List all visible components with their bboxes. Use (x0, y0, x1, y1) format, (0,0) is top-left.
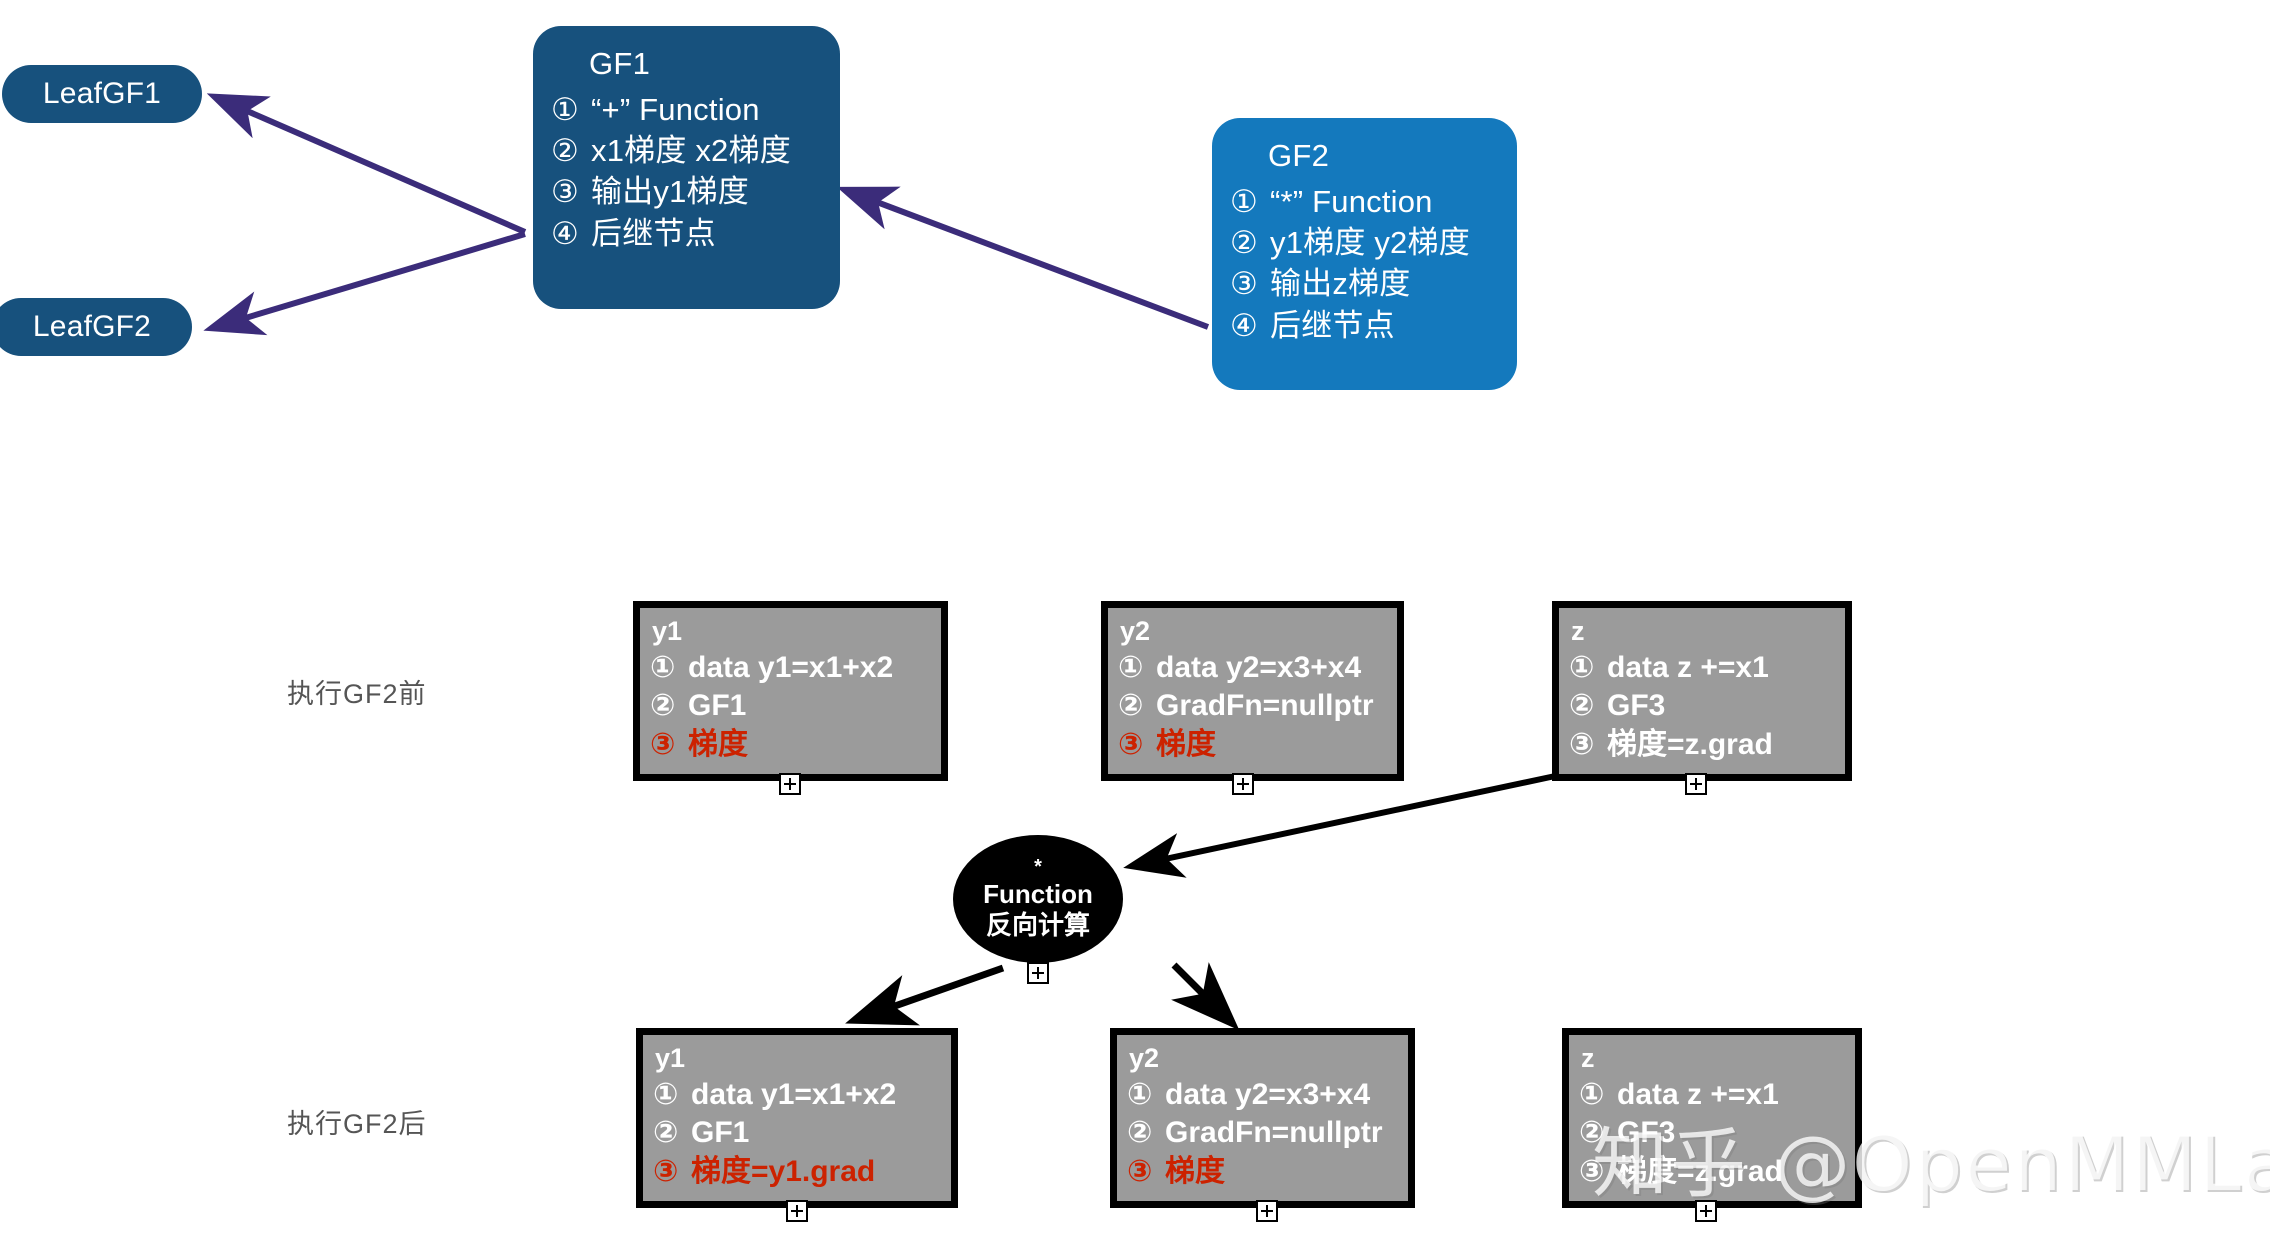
var-item: ③梯度 (650, 726, 941, 764)
var-item: ②GradFn=nullptr (1127, 1114, 1408, 1152)
var-item-list: ①data z +=x1 ②GF3 ③梯度=z.grad (1559, 645, 1845, 764)
list-number: ② (1569, 687, 1607, 725)
expand-handle-y2-after[interactable] (1256, 1200, 1278, 1222)
list-number: ③ (1118, 726, 1156, 764)
list-number: ① (1127, 1076, 1165, 1114)
arrow-gf2-to-gf1 (845, 190, 1208, 327)
arrow-function-to-y1 (855, 968, 1003, 1020)
var-item: ②GradFn=nullptr (1118, 687, 1397, 725)
var-item-list: ①data y1=x1+x2 ②GF1 ③梯度 (640, 645, 941, 764)
var-item: ②GF3 (1569, 687, 1845, 725)
list-number: ① (653, 1076, 691, 1114)
list-number: ④ (1230, 305, 1270, 346)
list-text: “*” Function (1270, 184, 1433, 219)
list-number: ② (551, 130, 591, 171)
gf1-item: ④后继节点 (551, 213, 840, 254)
gf1-item: ①“+” Function (551, 89, 840, 130)
list-text: data y1=x1+x2 (691, 1078, 896, 1111)
var-name: z (1559, 608, 1845, 645)
varbox-y2-before[interactable]: y2 ①data y2=x3+x4 ②GradFn=nullptr ③梯度 (1101, 601, 1404, 781)
list-text: data y2=x3+x4 (1165, 1078, 1370, 1111)
list-text: 梯度 (1165, 1155, 1225, 1188)
gf1-item: ③输出y1梯度 (551, 171, 840, 212)
leafgf1-label: LeafGF1 (43, 77, 161, 111)
var-item-list: ①data y2=x3+x4 ②GradFn=nullptr ③梯度 (1117, 1072, 1408, 1191)
list-number: ③ (1230, 263, 1270, 304)
varbox-y1-after[interactable]: y1 ①data y1=x1+x2 ②GF1 ③梯度=y1.grad (636, 1028, 958, 1208)
list-text: data y2=x3+x4 (1156, 651, 1361, 684)
list-text: data y1=x1+x2 (688, 651, 893, 684)
var-item: ②GF1 (650, 687, 941, 725)
expand-handle-y2-before[interactable] (1232, 773, 1254, 795)
list-number: ① (1118, 649, 1156, 687)
var-item: ①data y1=x1+x2 (650, 649, 941, 687)
var-name: y2 (1117, 1035, 1408, 1072)
list-text: 输出y1梯度 (591, 174, 749, 209)
list-number: ③ (551, 171, 591, 212)
var-item: ①data y2=x3+x4 (1127, 1076, 1408, 1114)
expand-handle-z-before[interactable] (1685, 773, 1707, 795)
var-name: y2 (1108, 608, 1397, 645)
list-text: GF1 (691, 1116, 749, 1149)
gf2-item: ②y1梯度 y2梯度 (1230, 222, 1517, 263)
var-item: ①data y1=x1+x2 (653, 1076, 951, 1114)
node-leafgf2[interactable]: LeafGF2 (0, 298, 192, 356)
list-text: GF3 (1607, 689, 1665, 722)
var-item: ③梯度=z.grad (1569, 726, 1845, 764)
list-number: ② (650, 687, 688, 725)
varbox-z-before[interactable]: z ①data z +=x1 ②GF3 ③梯度=z.grad (1552, 601, 1852, 781)
var-item-list: ①data y1=x1+x2 ②GF1 ③梯度=y1.grad (643, 1072, 951, 1191)
list-text: 后继节点 (1270, 308, 1395, 343)
star-symbol: * (1034, 857, 1042, 877)
list-text: GF1 (688, 689, 746, 722)
node-leafgf1[interactable]: LeafGF1 (2, 65, 202, 123)
list-text: y1梯度 y2梯度 (1270, 225, 1470, 260)
list-number: ③ (653, 1153, 691, 1191)
node-gf1[interactable]: GF1 ①“+” Function ②x1梯度 x2梯度 ③输出y1梯度 ④后继… (533, 26, 840, 309)
row-label-after: 执行GF2后 (287, 1102, 427, 1141)
var-item: ③梯度 (1118, 726, 1397, 764)
expand-handle-function[interactable] (1027, 962, 1049, 984)
var-item: ①data z +=x1 (1569, 649, 1845, 687)
gf1-title: GF1 (533, 26, 840, 79)
diagram-canvas: LeafGF1 LeafGF2 GF1 ①“+” Function ②x1梯度 … (0, 0, 2270, 1246)
list-text: 梯度=y1.grad (691, 1155, 875, 1188)
var-name: y1 (640, 608, 941, 645)
watermark: 知乎 @OpenMMLab (1592, 1102, 2270, 1212)
var-name: z (1569, 1035, 1855, 1072)
list-number: ④ (551, 213, 591, 254)
list-number: ② (1230, 222, 1270, 263)
var-item: ②GF1 (653, 1114, 951, 1152)
list-text: data z +=x1 (1607, 651, 1769, 684)
list-text: 梯度 (1156, 728, 1216, 761)
arrow-gf1-to-leafgf1 (215, 97, 525, 232)
list-number: ③ (650, 726, 688, 764)
list-number: ① (650, 649, 688, 687)
leafgf2-label: LeafGF2 (33, 310, 151, 344)
list-text: x1梯度 x2梯度 (591, 133, 791, 168)
list-number: ② (1127, 1114, 1165, 1152)
list-number: ② (653, 1114, 691, 1152)
list-text: 输出z梯度 (1270, 266, 1411, 301)
list-text: 后继节点 (591, 216, 716, 251)
list-number: ① (1230, 181, 1270, 222)
varbox-y2-after[interactable]: y2 ①data y2=x3+x4 ②GradFn=nullptr ③梯度 (1110, 1028, 1415, 1208)
row-label-before: 执行GF2前 (287, 672, 427, 711)
gf1-item: ②x1梯度 x2梯度 (551, 130, 840, 171)
var-item-list: ①data y2=x3+x4 ②GradFn=nullptr ③梯度 (1108, 645, 1397, 764)
gf1-item-list: ①“+” Function ②x1梯度 x2梯度 ③输出y1梯度 ④后继节点 (533, 79, 840, 254)
function-sublabel: 反向计算 (986, 910, 1090, 941)
var-item: ①data y2=x3+x4 (1118, 649, 1397, 687)
list-number: ③ (1127, 1153, 1165, 1191)
gf2-item: ①“*” Function (1230, 181, 1517, 222)
varbox-y1-before[interactable]: y1 ①data y1=x1+x2 ②GF1 ③梯度 (633, 601, 948, 781)
gf2-item: ④后继节点 (1230, 305, 1517, 346)
node-function-backward[interactable]: * Function 反向计算 (953, 835, 1123, 963)
expand-handle-y1-after[interactable] (786, 1200, 808, 1222)
arrow-function-to-y2 (1174, 965, 1232, 1023)
arrow-gf1-to-leafgf2 (212, 234, 525, 328)
list-number: ③ (1569, 726, 1607, 764)
arrow-z-to-function (1132, 775, 1560, 866)
list-number: ② (1118, 687, 1156, 725)
list-text: GradFn=nullptr (1156, 689, 1374, 722)
list-text: GradFn=nullptr (1165, 1116, 1383, 1149)
gf2-item-list: ①“*” Function ②y1梯度 y2梯度 ③输出z梯度 ④后继节点 (1212, 171, 1517, 346)
var-item: ③梯度 (1127, 1153, 1408, 1191)
gf2-item: ③输出z梯度 (1230, 263, 1517, 304)
list-text: 梯度 (688, 728, 748, 761)
list-number: ① (551, 89, 591, 130)
gf2-title: GF2 (1212, 118, 1517, 171)
list-text: “+” Function (591, 92, 760, 127)
node-gf2[interactable]: GF2 ①“*” Function ②y1梯度 y2梯度 ③输出z梯度 ④后继节… (1212, 118, 1517, 390)
expand-handle-y1-before[interactable] (779, 773, 801, 795)
var-item: ③梯度=y1.grad (653, 1153, 951, 1191)
var-name: y1 (643, 1035, 951, 1072)
list-text: 梯度=z.grad (1607, 728, 1773, 761)
function-label: Function (983, 879, 1093, 910)
list-number: ① (1569, 649, 1607, 687)
